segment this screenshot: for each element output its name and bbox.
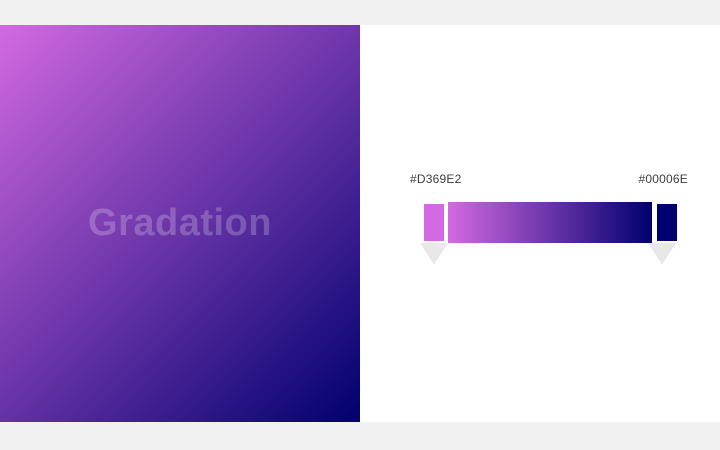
stop-label-row: #D369E2 #00006E xyxy=(410,172,688,188)
start-stop-handle-icon[interactable] xyxy=(420,243,448,265)
gradient-editor-panel: #D369E2 #00006E xyxy=(360,25,720,422)
end-stop-handle-icon[interactable] xyxy=(648,243,676,265)
end-color-swatch[interactable] xyxy=(655,202,679,243)
gradient-preview-panel[interactable]: Gradation xyxy=(0,25,360,422)
page-title: Gradation xyxy=(0,25,360,422)
start-color-swatch[interactable] xyxy=(422,202,446,243)
app-canvas: Gradation #D369E2 #00006E xyxy=(0,0,720,450)
end-color-label: #00006E xyxy=(639,172,688,186)
gradient-ramp-bar[interactable] xyxy=(448,202,652,243)
gradient-ramp-row[interactable] xyxy=(422,202,678,243)
start-color-label: #D369E2 xyxy=(410,172,461,186)
